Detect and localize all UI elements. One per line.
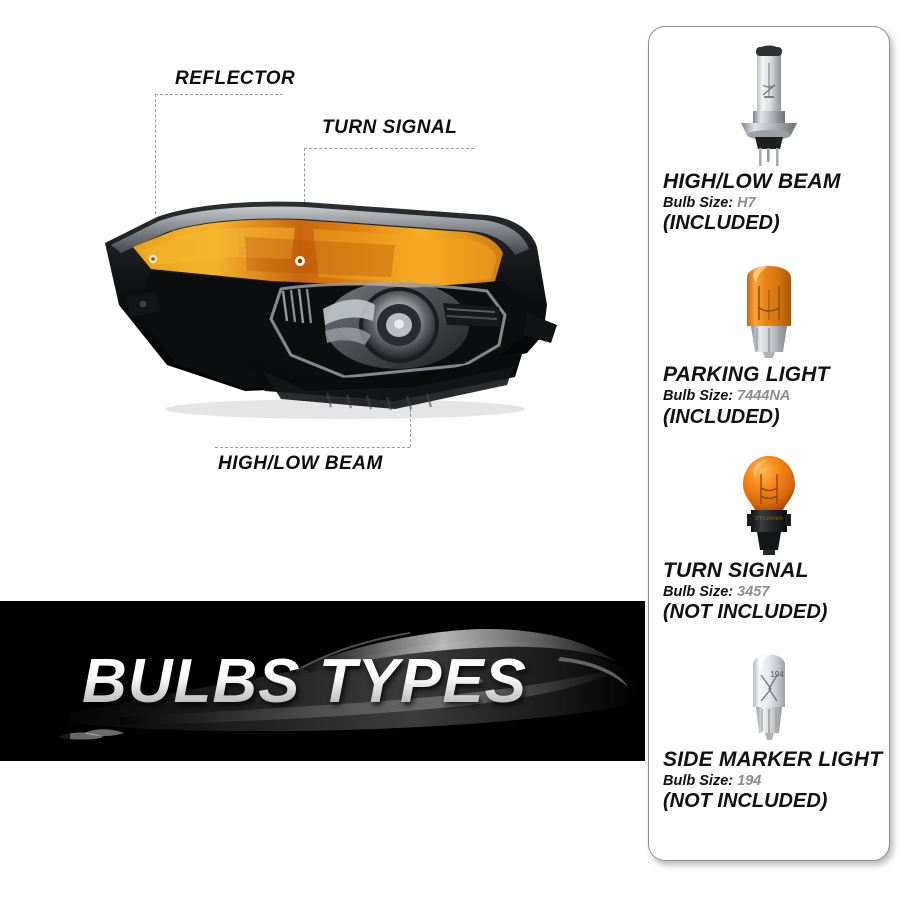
bulb-size-value: 7444NA (737, 388, 790, 404)
bulb-size-label: Bulb Size: (663, 773, 733, 789)
callout-label-reflector: REFLECTOR (175, 68, 295, 90)
bulb-size-label: Bulb Size: (663, 388, 733, 404)
bulb-name: HIGH/LOW BEAM (663, 171, 841, 193)
bulb-size-line: Bulb Size: 7444NA (663, 389, 830, 404)
bulb-size-label: Bulb Size: (663, 195, 733, 211)
bulbs-types-banner: BULBS TYPES (0, 601, 645, 761)
bulb-included-status: (INCLUDED) (663, 407, 830, 428)
bulb-text-parking-light: PARKING LIGHT Bulb Size: 7444NA (INCLUDE… (649, 364, 830, 427)
bulb-item-side-marker-light: 194 SIDE MARKER LIGHT Bulb Size: 194 (NO… (649, 641, 889, 812)
bulb-text-high-low-beam: HIGH/LOW BEAM Bulb Size: H7 (INCLUDED) (649, 171, 841, 234)
bulb-included-status: (NOT INCLUDED) (663, 791, 882, 812)
headlight-assembly-image (95, 185, 565, 430)
bulb-size-line: Bulb Size: H7 (663, 196, 841, 211)
bulb-glass-marking: 194 (770, 670, 784, 679)
banner-title-wrap: BULBS TYPES (0, 601, 645, 761)
svg-text:SYLVANIA: SYLVANIA (755, 516, 783, 522)
bulb-size-label: Bulb Size: (663, 584, 733, 600)
callout-label-turn-signal: TURN SIGNAL (322, 117, 457, 139)
bulb-included-status: (INCLUDED) (663, 213, 841, 234)
product-illustration-area: REFLECTOR TURN SIGNAL HIGH/LOW BEAM (0, 0, 645, 600)
bulb-name: PARKING LIGHT (663, 364, 830, 386)
bulb-size-line: Bulb Size: 194 (663, 774, 882, 789)
infographic-canvas: REFLECTOR TURN SIGNAL HIGH/LOW BEAM (0, 0, 900, 900)
amber-plastic-base-bulb-icon: SYLVANIA (649, 448, 889, 560)
bulb-item-high-low-beam: HIGH/LOW BEAM Bulb Size: H7 (INCLUDED) (649, 27, 889, 234)
bulb-text-side-marker-light: SIDE MARKER LIGHT Bulb Size: 194 (NOT IN… (649, 749, 882, 812)
bulb-size-line: Bulb Size: 3457 (663, 585, 827, 600)
bulb-item-parking-light: PARKING LIGHT Bulb Size: 7444NA (INCLUDE… (649, 252, 889, 427)
bulb-text-turn-signal: TURN SIGNAL Bulb Size: 3457 (NOT INCLUDE… (649, 560, 827, 623)
leader-line-turn-signal-horizontal (304, 148, 474, 149)
leader-line-reflector-horizontal (155, 94, 283, 95)
clear-wedge-bulb-icon: 194 (649, 641, 889, 749)
bulb-size-value: H7 (737, 195, 756, 211)
h7-halogen-bulb-icon (649, 27, 889, 171)
amber-wedge-bulb-icon (649, 252, 889, 364)
bulb-size-value: 194 (737, 773, 761, 789)
banner-title: BULBS TYPES (82, 646, 527, 717)
bulb-size-value: 3457 (737, 584, 769, 600)
bulb-included-status: (NOT INCLUDED) (663, 602, 827, 623)
bulbs-types-card: HIGH/LOW BEAM Bulb Size: H7 (INCLUDED) (648, 26, 890, 861)
bulb-name: TURN SIGNAL (663, 560, 827, 582)
bulb-name: SIDE MARKER LIGHT (663, 749, 882, 771)
callout-label-high-low-beam: HIGH/LOW BEAM (218, 453, 383, 475)
bulb-item-turn-signal: SYLVANIA TURN SIGNAL Bulb Size: 3457 (NO… (649, 448, 889, 623)
leader-line-high-low-beam-horizontal (215, 447, 410, 448)
